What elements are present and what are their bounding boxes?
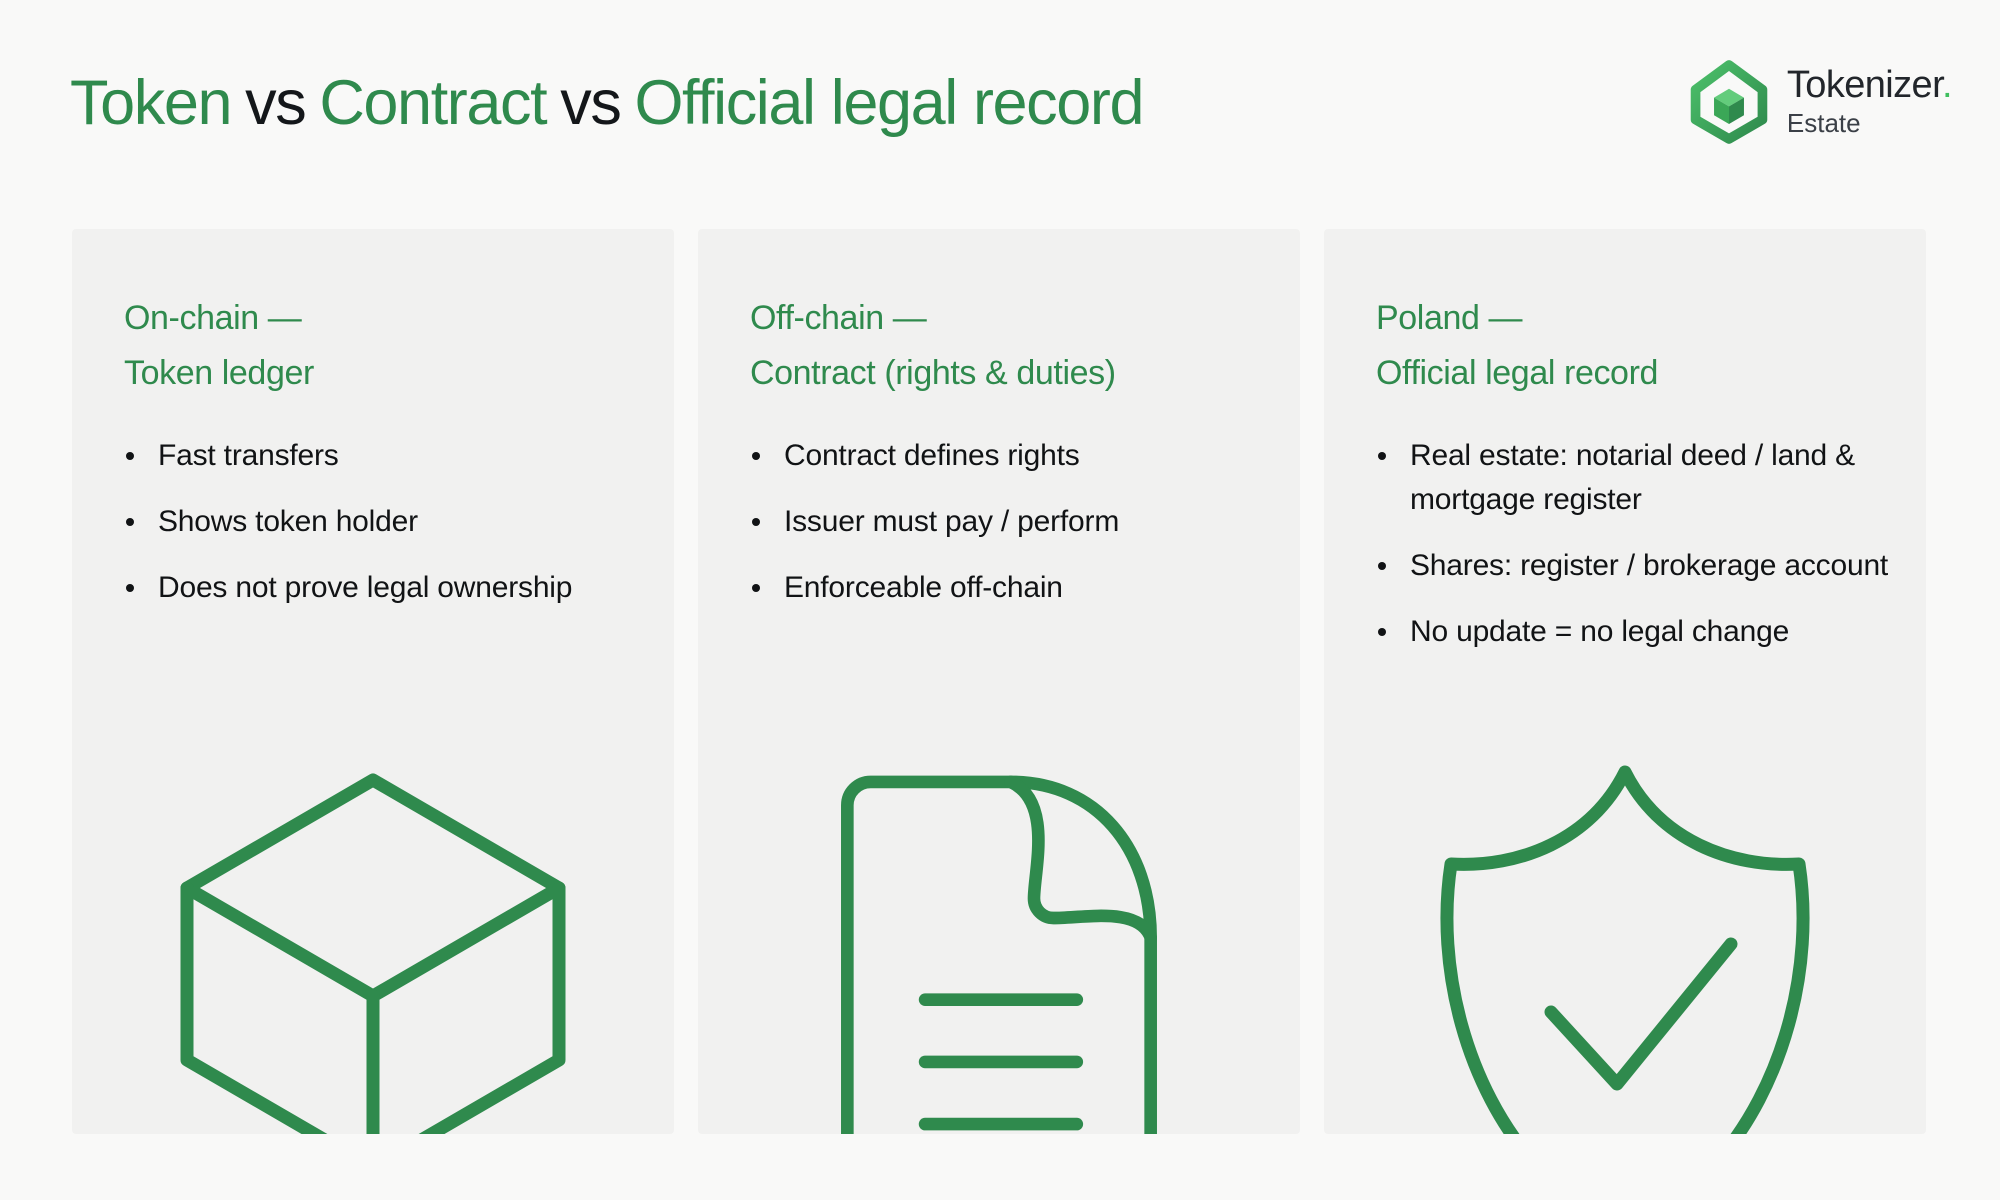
bullet-dot-icon — [1378, 452, 1386, 460]
list-item: Shows token holder — [124, 500, 644, 544]
list-item: Real estate: notarial deed / land & mort… — [1376, 434, 1896, 522]
list-item: Issuer must pay / perform — [750, 500, 1270, 544]
brand-name-dot: . — [1942, 64, 1952, 106]
brand-name-text: Tokenizer — [1787, 64, 1942, 106]
card-heading: Poland — Official legal record — [1376, 291, 1658, 401]
card-off-chain-contract: Off-chain — Contract (rights & duties) C… — [698, 229, 1300, 1134]
bullet-text: Contract defines rights — [784, 439, 1080, 472]
bullet-text: Shows token holder — [158, 505, 418, 538]
title-word-vs-1: vs — [245, 68, 305, 138]
card-bullet-list: Real estate: notarial deed / land & mort… — [1376, 434, 1896, 676]
card-poland-official-legal-record: Poland — Official legal record Real esta… — [1324, 229, 1926, 1134]
title-word-contract: Contract — [319, 68, 546, 138]
title-word-token: Token — [70, 68, 231, 138]
card-bullet-list: Contract defines rights Issuer must pay … — [750, 434, 1270, 632]
bullet-dot-icon — [126, 584, 134, 592]
page-title: TokenvsContractvsOfficial legal record — [70, 72, 1143, 135]
card-heading-line2: Contract (rights & duties) — [750, 346, 1116, 401]
bullet-dot-icon — [752, 452, 760, 460]
card-heading-line1: Poland — — [1376, 291, 1658, 346]
brand-text: Tokenizer. Estate — [1787, 66, 1952, 138]
bullet-dot-icon — [1378, 562, 1386, 570]
house-hexagon-cube-logo-icon — [1685, 58, 1773, 146]
bullet-text: No update = no legal change — [1410, 615, 1789, 648]
cube-icon — [163, 756, 583, 1134]
list-item: No update = no legal change — [1376, 610, 1896, 654]
title-word-vs-2: vs — [560, 68, 620, 138]
list-item: Enforceable off-chain — [750, 566, 1270, 610]
card-heading: On-chain — Token ledger — [124, 291, 314, 401]
bullet-dot-icon — [126, 518, 134, 526]
brand-logo[interactable]: Tokenizer. Estate — [1685, 58, 1952, 146]
page-header: TokenvsContractvsOfficial legal record — [0, 0, 2000, 200]
card-heading: Off-chain — Contract (rights & duties) — [750, 291, 1116, 401]
brand-subtitle: Estate — [1787, 110, 1952, 136]
shield-check-icon — [1415, 752, 1835, 1134]
document-icon — [824, 758, 1174, 1134]
card-on-chain-token-ledger: On-chain — Token ledger Fast transfers S… — [72, 229, 674, 1134]
brand-name: Tokenizer. — [1787, 66, 1952, 104]
bullet-text: Does not prove legal ownership — [158, 571, 572, 604]
list-item: Does not prove legal ownership — [124, 566, 644, 610]
card-heading-line1: On-chain — — [124, 291, 314, 346]
bullet-text: Real estate: notarial deed / land & mort… — [1410, 439, 1855, 516]
bullet-dot-icon — [752, 584, 760, 592]
comparison-cards: On-chain — Token ledger Fast transfers S… — [72, 229, 1926, 1134]
bullet-dot-icon — [752, 518, 760, 526]
bullet-dot-icon — [1378, 628, 1386, 636]
card-bullet-list: Fast transfers Shows token holder Does n… — [124, 434, 644, 632]
bullet-text: Shares: register / brokerage account — [1410, 549, 1888, 582]
card-heading-line1: Off-chain — — [750, 291, 1116, 346]
bullet-text: Fast transfers — [158, 439, 339, 472]
title-word-official-legal-record: Official legal record — [634, 68, 1143, 138]
list-item: Shares: register / brokerage account — [1376, 544, 1896, 588]
card-heading-line2: Token ledger — [124, 346, 314, 401]
bullet-text: Enforceable off-chain — [784, 571, 1063, 604]
card-heading-line2: Official legal record — [1376, 346, 1658, 401]
list-item: Fast transfers — [124, 434, 644, 478]
bullet-dot-icon — [126, 452, 134, 460]
bullet-text: Issuer must pay / perform — [784, 505, 1119, 538]
list-item: Contract defines rights — [750, 434, 1270, 478]
